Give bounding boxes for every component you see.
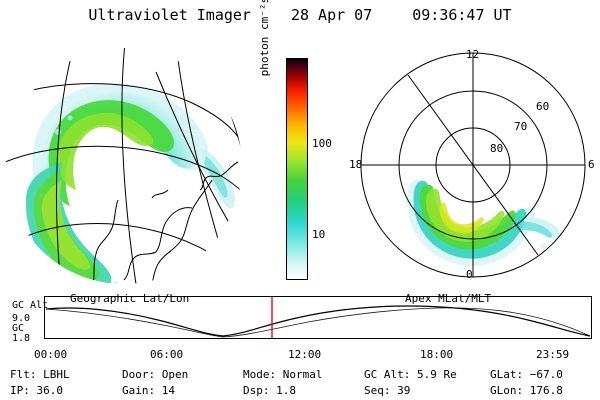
footer-seq: Seq: 39 — [364, 384, 410, 397]
footer-mode: Mode: Normal — [243, 368, 322, 381]
footer-flt: Flt: LBHL — [10, 368, 70, 381]
footer-gain: Gain: 14 — [122, 384, 175, 397]
footer-door: Door: Open — [122, 368, 188, 381]
status-footer: Flt: LBHL Door: Open Mode: Normal GC Alt… — [0, 0, 600, 400]
footer-ip: IP: 36.0 — [10, 384, 63, 397]
footer-glat: GLat: −67.0 — [490, 368, 563, 381]
footer-glon: GLon: 176.8 — [490, 384, 563, 397]
footer-gcalt: GC Alt: 5.9 Re — [364, 368, 457, 381]
footer-dsp: Dsp: 1.8 — [243, 384, 296, 397]
